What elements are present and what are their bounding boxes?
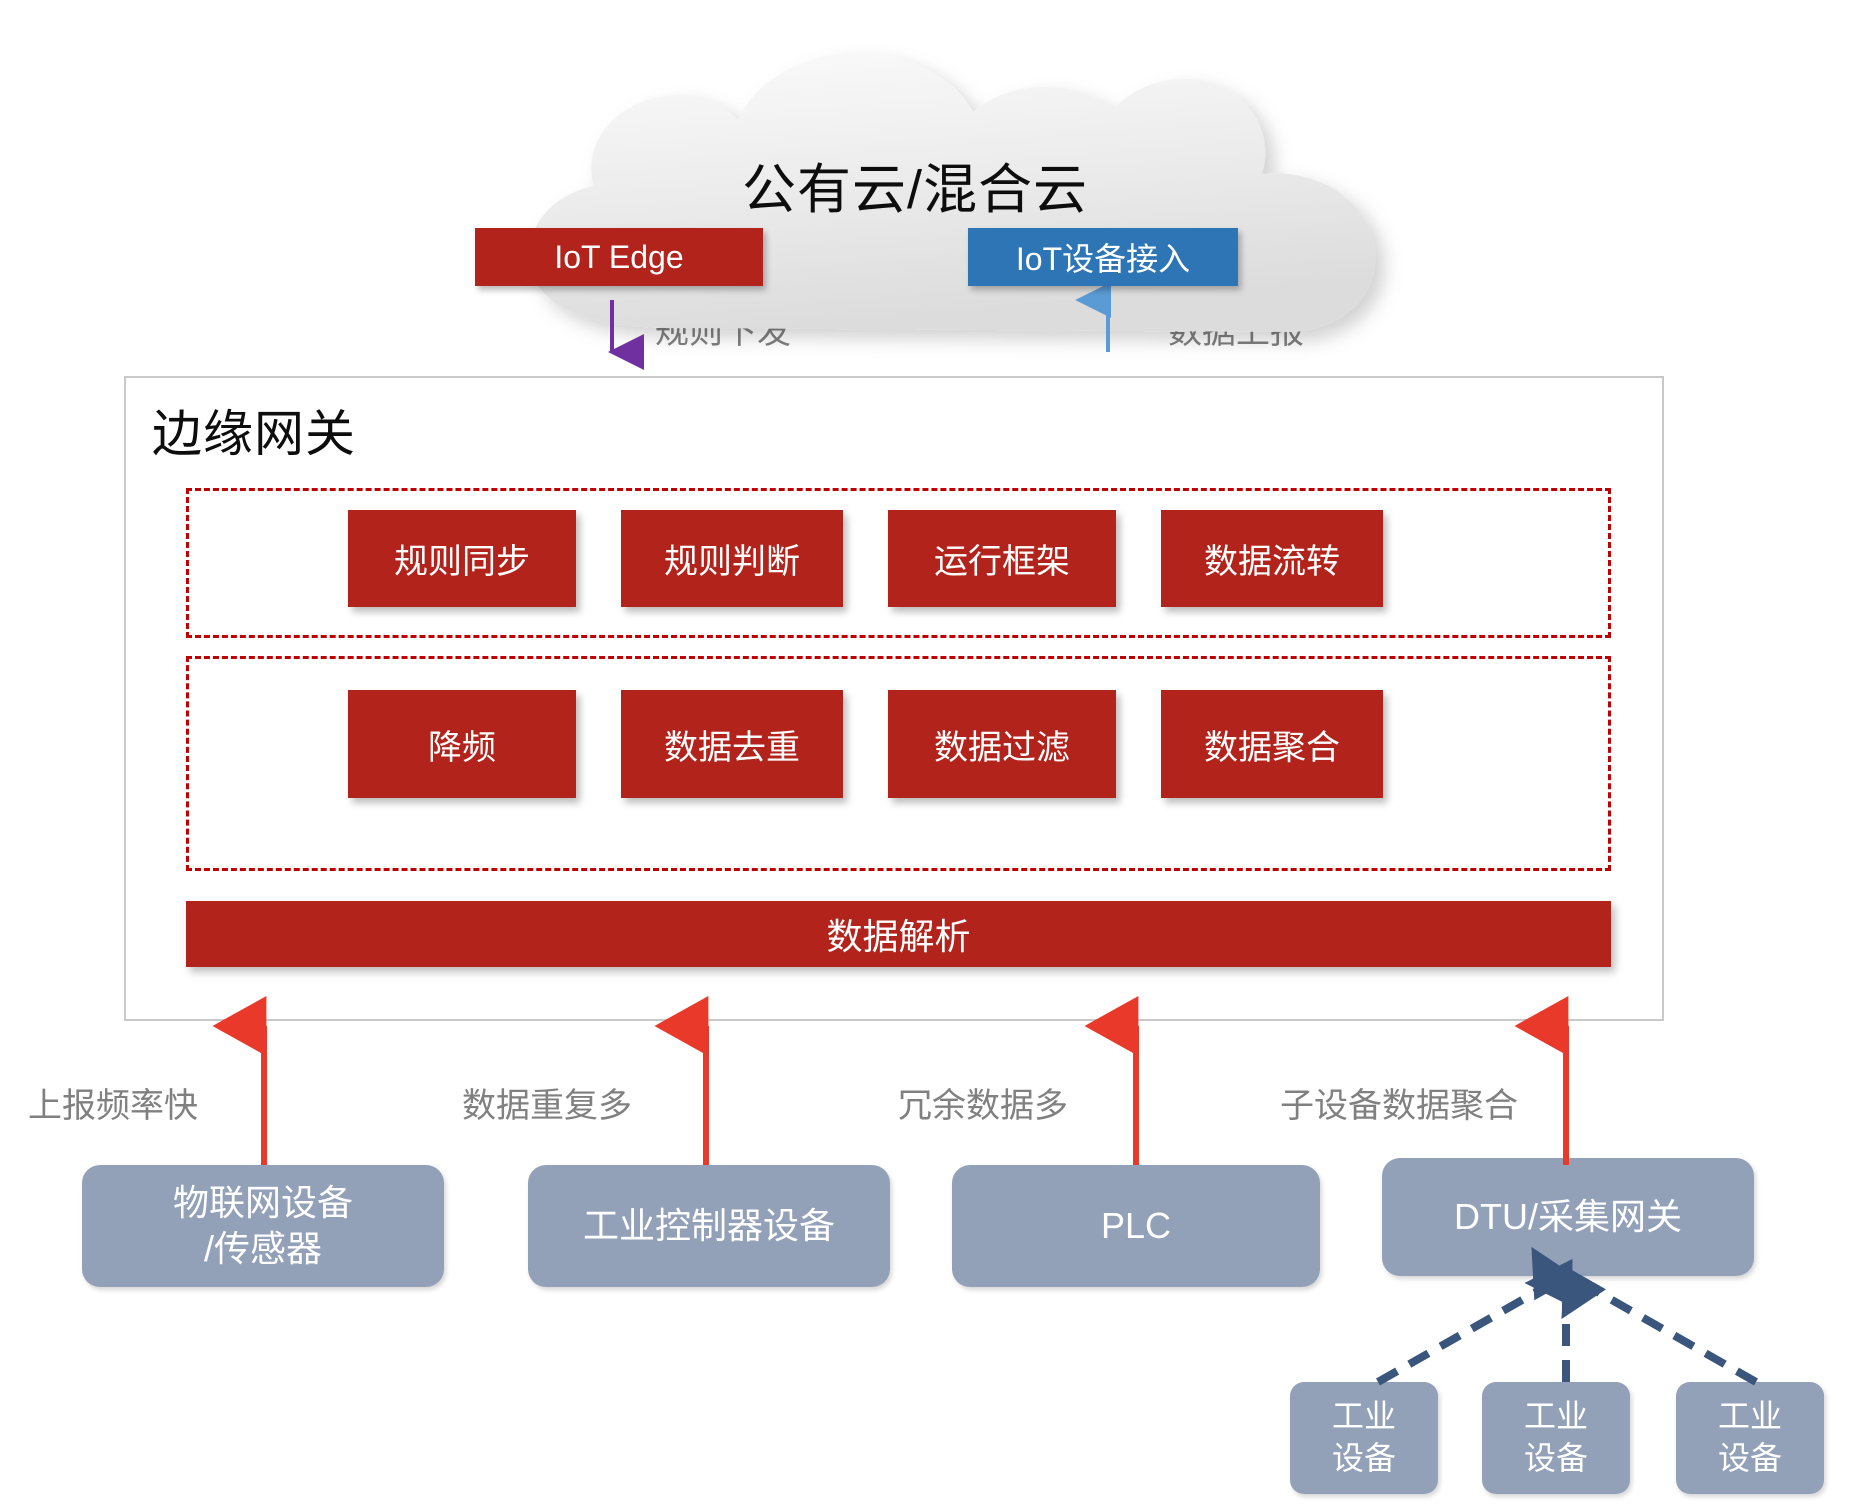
edge-gateway-title: 边缘网关 xyxy=(152,394,356,466)
device-line-2: /传感器 xyxy=(173,1226,353,1272)
chip-data-filter[interactable]: 数据过滤 xyxy=(888,690,1116,798)
chip-dedup[interactable]: 数据去重 xyxy=(621,690,843,798)
device-box-plc[interactable]: PLC xyxy=(952,1165,1320,1287)
chip-downsampling[interactable]: 降频 xyxy=(348,690,576,798)
sub-device-box-2[interactable]: 工业 设备 xyxy=(1482,1382,1630,1494)
sub-device-label-stack: 工业 设备 xyxy=(1718,1396,1782,1479)
device-box-iot-sensor[interactable]: 物联网设备 /传感器 xyxy=(82,1165,444,1287)
sub-device-arrow-left xyxy=(1378,1283,1552,1382)
device-box-industrial-controller[interactable]: 工业控制器设备 xyxy=(528,1165,890,1287)
device-label-stack: PLC xyxy=(1101,1203,1171,1249)
sub-device-line-2: 设备 xyxy=(1332,1438,1396,1480)
chip-data-flow[interactable]: 数据流转 xyxy=(1161,510,1383,607)
sub-device-label-stack: 工业 设备 xyxy=(1332,1396,1396,1479)
chip-data-aggregation[interactable]: 数据聚合 xyxy=(1161,690,1383,798)
iot-edge-chip[interactable]: IoT Edge xyxy=(475,228,763,286)
device-line-1: 工业控制器设备 xyxy=(583,1203,835,1249)
data-report-label: 数据上报 xyxy=(1168,304,1304,353)
chip-runtime-framework[interactable]: 运行框架 xyxy=(888,510,1116,607)
sub-device-box-1[interactable]: 工业 设备 xyxy=(1290,1382,1438,1494)
device-label-stack: 物联网设备 /传感器 xyxy=(173,1180,353,1272)
sub-device-line-1: 工业 xyxy=(1332,1396,1396,1438)
chip-rule-judge[interactable]: 规则判断 xyxy=(621,510,843,607)
device-box-dtu-gateway[interactable]: DTU/采集网关 xyxy=(1382,1158,1754,1276)
chip-rule-sync[interactable]: 规则同步 xyxy=(348,510,576,607)
sub-device-line-2: 设备 xyxy=(1524,1438,1588,1480)
problem-label-1: 上报频率快 xyxy=(28,1078,198,1127)
device-line-1: PLC xyxy=(1101,1203,1171,1249)
chip-data-parsing[interactable]: 数据解析 xyxy=(186,901,1611,967)
cloud-title: 公有云/混合云 xyxy=(270,145,1560,224)
device-label-stack: DTU/采集网关 xyxy=(1454,1194,1682,1240)
sub-device-line-1: 工业 xyxy=(1718,1396,1782,1438)
rule-push-label: 规则下发 xyxy=(655,304,791,353)
diagram-canvas: 公有云/混合云 IoT Edge IoT设备接入 规则下发 数据上报 边缘网关 … xyxy=(0,0,1868,1512)
sub-device-box-3[interactable]: 工业 设备 xyxy=(1676,1382,1824,1494)
problem-label-4: 子设备数据聚合 xyxy=(1280,1078,1518,1127)
sub-device-label-stack: 工业 设备 xyxy=(1524,1396,1588,1479)
sub-device-line-2: 设备 xyxy=(1718,1438,1782,1480)
edge-gateway-container: 边缘网关 规则同步 规则判断 运行框架 数据流转 降频 数据去重 数据过滤 数据… xyxy=(124,376,1664,1021)
public-cloud-region: 公有云/混合云 IoT Edge IoT设备接入 xyxy=(270,60,1560,310)
problem-label-3: 冗余数据多 xyxy=(898,1078,1068,1127)
sub-device-line-1: 工业 xyxy=(1524,1396,1588,1438)
iot-device-access-chip[interactable]: IoT设备接入 xyxy=(968,228,1238,286)
device-line-1: DTU/采集网关 xyxy=(1454,1194,1682,1240)
sub-device-arrow-right xyxy=(1582,1283,1756,1382)
device-label-stack: 工业控制器设备 xyxy=(583,1203,835,1249)
device-line-1: 物联网设备 xyxy=(173,1180,353,1226)
problem-label-2: 数据重复多 xyxy=(462,1078,632,1127)
